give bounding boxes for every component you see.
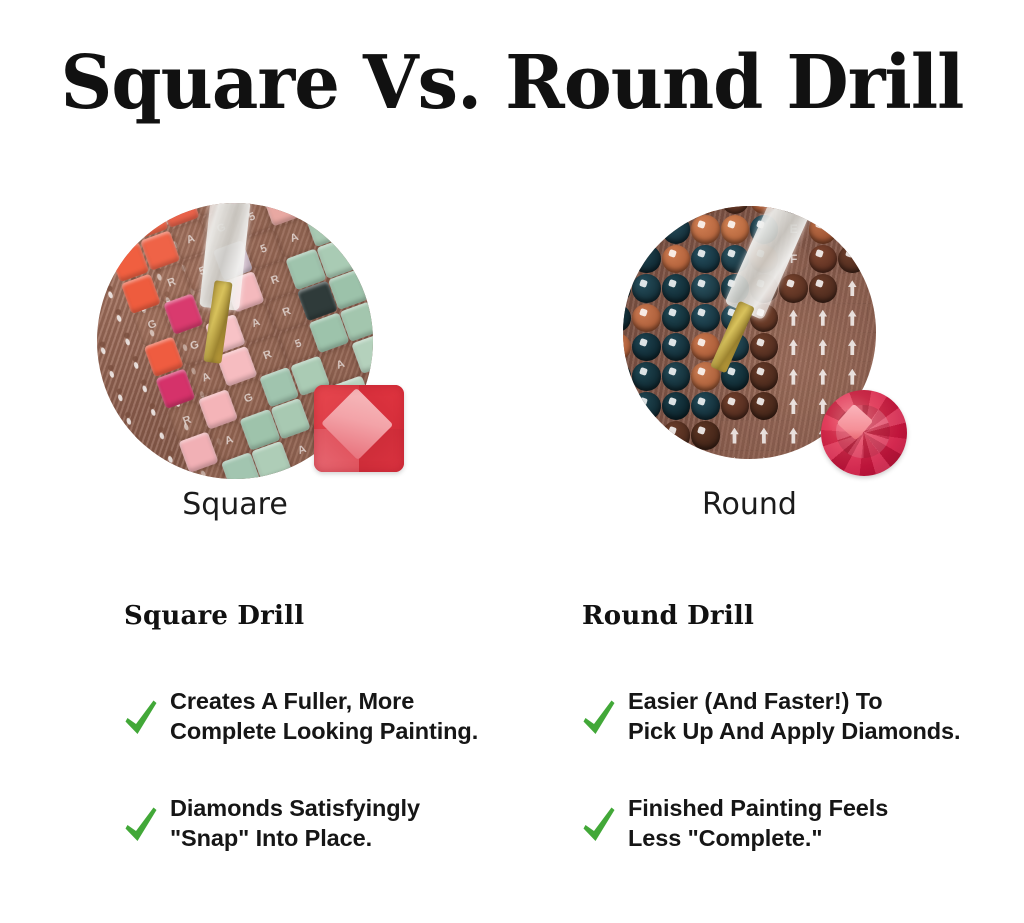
list-item: Creates A Fuller, More Complete Looking …	[124, 687, 544, 746]
heading-round-drill: Round Drill	[582, 603, 1002, 629]
check-icon	[582, 699, 616, 739]
list-item: Easier (And Faster!) To Pick Up And Appl…	[582, 687, 1002, 746]
check-icon	[124, 699, 158, 739]
list-item: Finished Painting Feels Less "Complete."	[582, 794, 1002, 853]
caption-square: Square	[97, 487, 373, 522]
list-item-label: Finished Painting Feels Less "Complete."	[628, 794, 888, 853]
column-square-drill: Square Drill Creates A Fuller, More Comp…	[124, 603, 544, 901]
column-round-drill: Round Drill Easier (And Faster!) To Pick…	[582, 603, 1002, 901]
list-item: Diamonds Satisfyingly "Snap" Into Place.	[124, 794, 544, 853]
caption-round: Round	[623, 487, 876, 522]
list-item-label: Diamonds Satisfyingly "Snap" Into Place.	[170, 794, 420, 853]
check-icon	[124, 806, 158, 846]
list-item-label: Easier (And Faster!) To Pick Up And Appl…	[628, 687, 960, 746]
heading-square-drill: Square Drill	[124, 603, 544, 629]
check-icon	[582, 806, 616, 846]
list-item-label: Creates A Fuller, More Complete Looking …	[170, 687, 478, 746]
round-gem-swatch	[821, 390, 907, 476]
page-title: Square Vs. Round Drill	[15, 46, 1008, 120]
square-gem-swatch	[314, 385, 404, 472]
